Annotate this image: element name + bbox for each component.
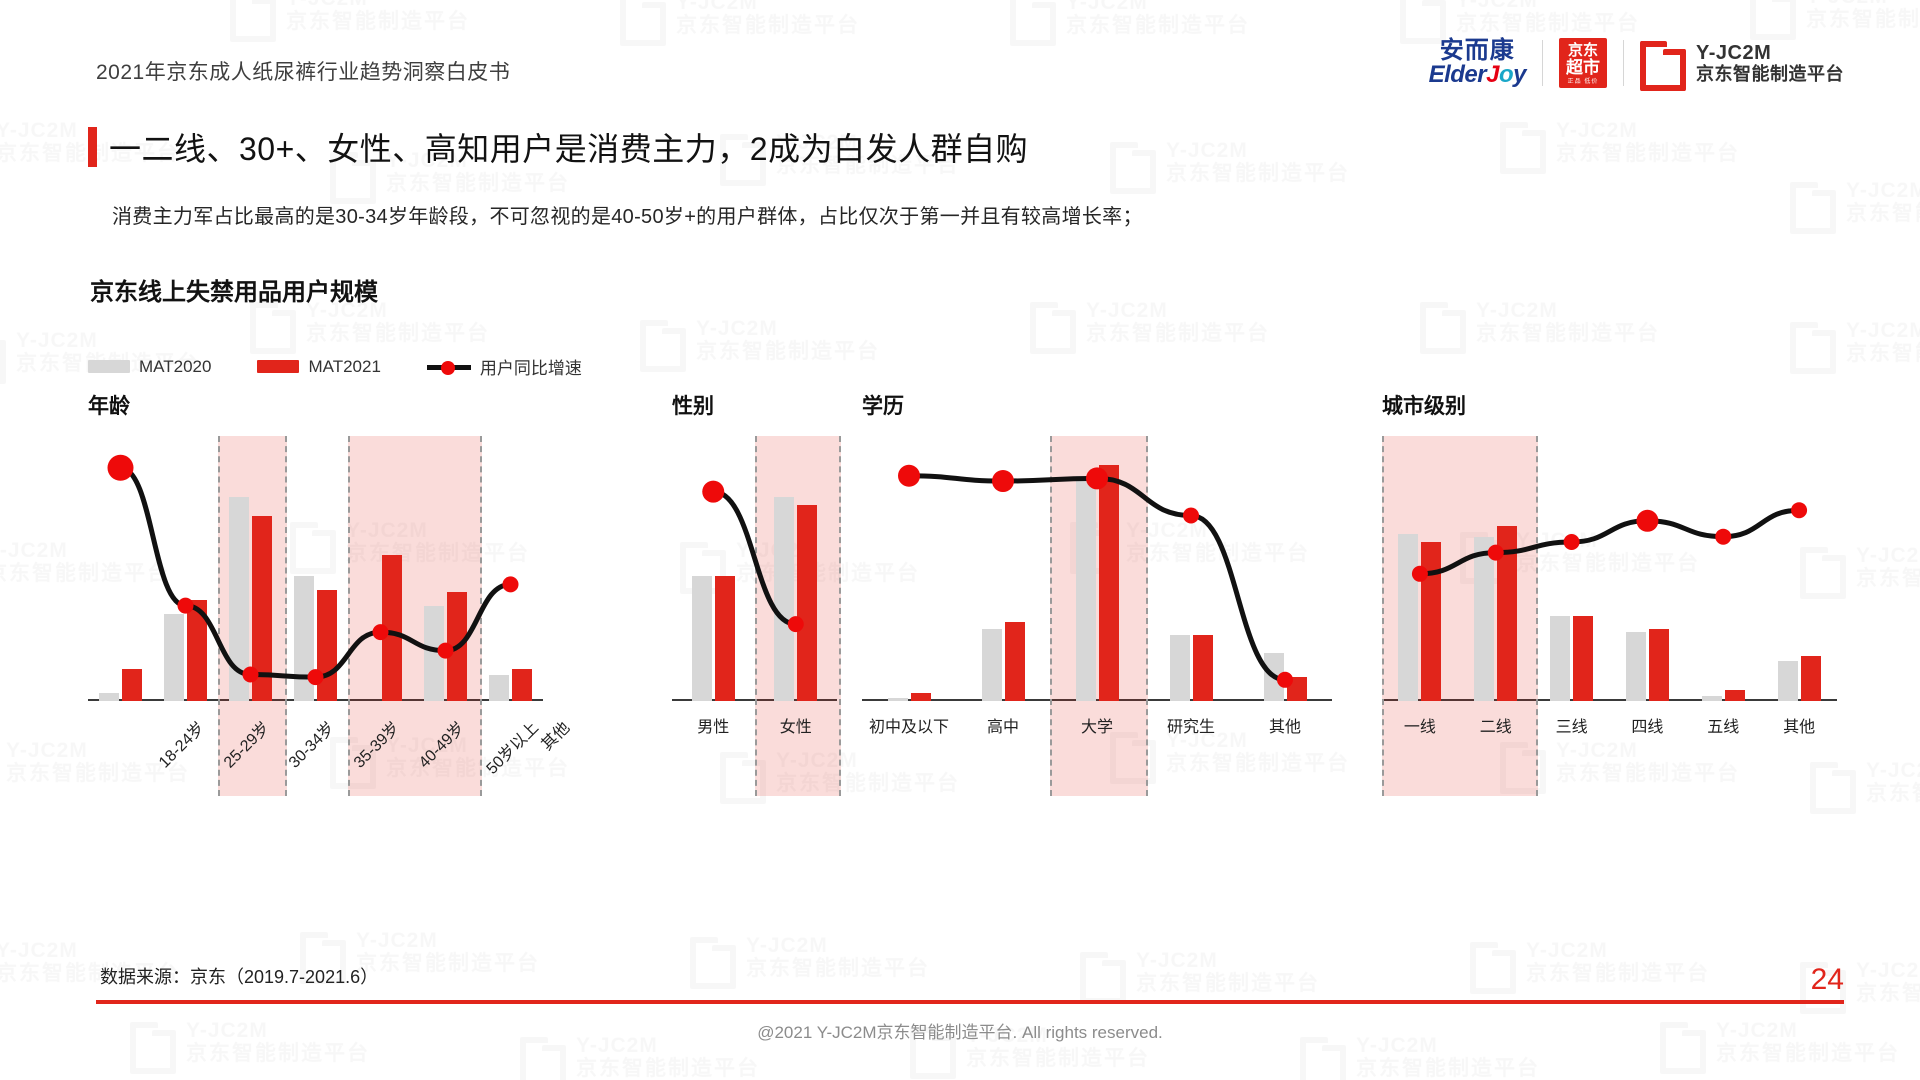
watermark-text: Y-JC2M京东智能制造平台 [696, 318, 880, 363]
watermark-mark-icon [690, 935, 736, 981]
watermark-item: Y-JC2M京东智能制造平台 [1470, 940, 1710, 986]
legend-label: 用户同比增速 [480, 354, 582, 379]
elderjoy-logo-en-part3: o [1499, 63, 1513, 87]
chart-legend: MAT2020MAT2021用户同比增速 [88, 354, 582, 379]
x-axis-labels-city-tier: 一线二线三线四线五线其他 [1382, 436, 1837, 701]
watermark-text: Y-JC2M京东智能制造平台 [1526, 940, 1710, 985]
watermark-mark-icon [1110, 140, 1156, 186]
page-number: 24 [1811, 963, 1844, 997]
x-axis-label: 五线 [1707, 713, 1739, 737]
elderjoy-logo-en-part4: y [1513, 63, 1526, 87]
plot-area-education: 初中及以下高中大学研究生其他 [862, 436, 1332, 701]
plot-area-gender: 男性女性 [672, 436, 837, 701]
watermark-mark-icon [1790, 180, 1836, 226]
legend-swatch-icon [257, 360, 299, 373]
footer-rule [96, 1000, 1844, 1004]
watermark-item: Y-JC2M京东智能制造平台 [1790, 180, 1920, 226]
x-axis-labels-education: 初中及以下高中大学研究生其他 [862, 436, 1332, 701]
headline-text: 一二线、30+、女性、高知用户是消费主力，2成为白发人群自购 [109, 124, 1028, 170]
jd-supermarket-logo-line2: 超市 [1559, 59, 1607, 77]
watermark-mark-icon [1470, 940, 1516, 986]
plot-area-age: 18-24岁25-29岁30-34岁35-39岁40-49岁50岁以上其他 [88, 436, 543, 701]
plot-inner-education: 初中及以下高中大学研究生其他 [862, 436, 1332, 701]
slide-header: 2021年京东成人纸尿裤行业趋势洞察白皮书 安而康 ElderJoy 京东 超市… [0, 0, 1920, 100]
chart-title-age: 年龄 [88, 390, 130, 420]
jd-supermarket-logo: 京东 超市 正品 低价 [1559, 38, 1607, 88]
x-axis-label: 大学 [1081, 713, 1113, 737]
watermark-mark-icon [1030, 300, 1076, 346]
watermark-mark-icon [1500, 120, 1546, 166]
headline-row: 一二线、30+、女性、高知用户是消费主力，2成为白发人群自购 [88, 124, 1028, 170]
watermark-text: Y-JC2M京东智能制造平台 [1846, 180, 1920, 225]
chart-title-education: 学历 [862, 390, 904, 420]
x-axis-label: 二线 [1480, 713, 1512, 737]
watermark-text: Y-JC2M京东智能制造平台 [1136, 950, 1320, 995]
copyright-text: @2021 Y-JC2M京东智能制造平台. All rights reserve… [0, 1018, 1920, 1043]
data-source-note: 数据来源：京东（2019.7-2021.6） [100, 963, 378, 989]
chart-title-gender: 性别 [672, 390, 714, 420]
legend-label: MAT2020 [139, 357, 211, 377]
x-axis-label: 研究生 [1167, 713, 1215, 737]
yjc2m-logo-cn: 京东智能制造平台 [1696, 64, 1844, 84]
elderjoy-logo-en-part1: Elder [1429, 63, 1487, 87]
legend-item--[interactable]: 用户同比增速 [427, 354, 582, 379]
section-title: 京东线上失禁用品用户规模 [90, 272, 378, 307]
chart-title-city-tier: 城市级别 [1382, 390, 1466, 420]
x-axis-label: 高中 [987, 713, 1019, 737]
watermark-item: Y-JC2M京东智能制造平台 [640, 318, 880, 364]
watermark-text: Y-JC2M京东智能制造平台 [1166, 140, 1350, 185]
legend-item-mat2020[interactable]: MAT2020 [88, 357, 211, 377]
plot-inner-gender: 男性女性 [672, 436, 837, 701]
document-title: 2021年京东成人纸尿裤行业趋势洞察白皮书 [96, 56, 510, 86]
watermark-item: Y-JC2M京东智能制造平台 [1080, 950, 1320, 996]
x-axis-label: 初中及以下 [869, 713, 949, 737]
jd-supermarket-logo-line1: 京东 [1559, 43, 1607, 59]
x-axis-label: 四线 [1631, 713, 1663, 737]
legend-line-marker-icon [427, 360, 471, 374]
watermark-text: Y-JC2M京东智能制造平台 [1086, 300, 1270, 345]
yjc2m-logo-text: Y-JC2M 京东智能制造平台 [1696, 42, 1844, 85]
x-axis-label: 男性 [697, 713, 729, 737]
watermark-item: Y-JC2M京东智能制造平台 [1790, 320, 1920, 366]
charts-container: 年龄18-24岁25-29岁30-34岁35-39岁40-49岁50岁以上其他性… [0, 390, 1920, 890]
watermark-item: Y-JC2M京东智能制造平台 [1420, 300, 1660, 346]
watermark-text: Y-JC2M京东智能制造平台 [1556, 120, 1740, 165]
watermark-mark-icon [640, 318, 686, 364]
plot-inner-city-tier: 一线二线三线四线五线其他 [1382, 436, 1837, 701]
legend-label: MAT2021 [308, 357, 380, 377]
x-axis-label: 18-24岁 [151, 715, 208, 772]
plot-area-city-tier: 一线二线三线四线五线其他 [1382, 436, 1837, 701]
legend-item-mat2021[interactable]: MAT2021 [257, 357, 380, 377]
watermark-text: Y-JC2M京东智能制造平台 [356, 930, 540, 975]
watermark-mark-icon [0, 330, 6, 376]
x-axis-label: 其他 [534, 715, 574, 755]
jd-supermarket-logo-line3: 正品 低价 [1559, 79, 1607, 85]
slide-page: Y-JC2M京东智能制造平台Y-JC2M京东智能制造平台Y-JC2M京东智能制造… [0, 0, 1920, 1080]
legend-swatch-icon [88, 360, 130, 373]
subheadline-text: 消费主力军占比最高的是30-34岁年龄段，不可忽视的是40-50岁+的用户群体，… [112, 200, 1143, 229]
elderjoy-logo-en-part2: J [1486, 63, 1499, 87]
watermark-text: Y-JC2M京东智能制造平台 [1856, 960, 1920, 1005]
yjc2m-logo-en: Y-JC2M [1696, 42, 1844, 64]
watermark-item: Y-JC2M京东智能制造平台 [1030, 300, 1270, 346]
elderjoy-logo: 安而康 ElderJoy [1429, 39, 1526, 87]
x-axis-label: 其他 [1783, 713, 1815, 737]
plot-inner-age: 18-24岁25-29岁30-34岁35-39岁40-49岁50岁以上其他 [88, 436, 543, 701]
x-axis-label: 女性 [780, 713, 812, 737]
watermark-text: Y-JC2M京东智能制造平台 [1476, 300, 1660, 345]
watermark-mark-icon [1420, 300, 1466, 346]
elderjoy-logo-cn: 安而康 [1440, 39, 1515, 63]
watermark-item: Y-JC2M京东智能制造平台 [1110, 140, 1350, 186]
yjc2m-logo: Y-JC2M 京东智能制造平台 [1640, 41, 1844, 85]
headline-accent-bar [88, 127, 97, 167]
x-axis-labels-age: 18-24岁25-29岁30-34岁35-39岁40-49岁50岁以上其他 [88, 436, 543, 701]
watermark-text: Y-JC2M京东智能制造平台 [746, 935, 930, 980]
x-axis-labels-gender: 男性女性 [672, 436, 837, 701]
watermark-item: Y-JC2M京东智能制造平台 [1500, 120, 1740, 166]
watermark-mark-icon [1790, 320, 1836, 366]
yjc2m-mark-icon [1640, 41, 1686, 85]
x-axis-label: 其他 [1269, 713, 1301, 737]
watermark-item: Y-JC2M京东智能制造平台 [690, 935, 930, 981]
x-axis-label: 一线 [1404, 713, 1436, 737]
watermark-text: Y-JC2M京东智能制造平台 [306, 300, 490, 345]
logo-divider-2 [1623, 40, 1624, 86]
x-axis-label: 50岁以上 [479, 715, 543, 779]
watermark-text: Y-JC2M京东智能制造平台 [1846, 320, 1920, 365]
watermark-mark-icon [1080, 950, 1126, 996]
logo-bar: 安而康 ElderJoy 京东 超市 正品 低价 Y-JC2M 京东智能制造平台 [1429, 38, 1844, 88]
logo-divider-1 [1542, 40, 1543, 86]
elderjoy-logo-en: ElderJoy [1429, 63, 1526, 87]
x-axis-label: 30-34岁 [281, 715, 338, 772]
x-axis-label: 三线 [1556, 713, 1588, 737]
